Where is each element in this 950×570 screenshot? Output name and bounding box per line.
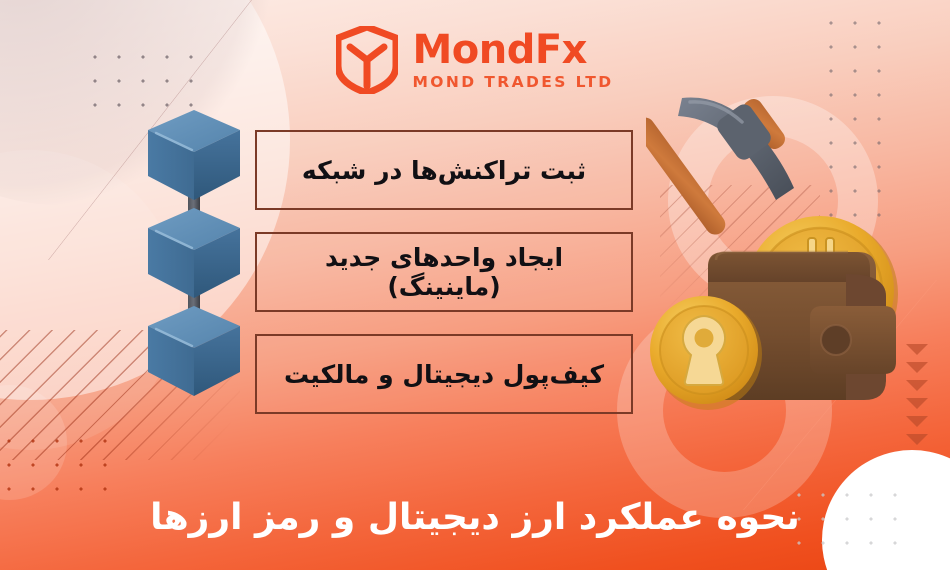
crypto-illustration — [646, 78, 908, 420]
mondfx-shield-logo-icon — [336, 26, 398, 94]
page-headline: نحوه عملکرد ارز دیجیتال و رمز ارزها — [0, 497, 950, 538]
feature-box-wallet[interactable]: کیف‌پول دیجیتال و مالکیت — [255, 334, 633, 414]
chevron-down-icon — [906, 416, 928, 427]
chevron-down-icon — [906, 434, 928, 445]
pickaxe-icon — [646, 95, 794, 238]
brand-tagline: MOND TRADES LTD — [412, 75, 613, 91]
chevron-down-icon — [906, 362, 928, 373]
brand-logo-text: MondFx MOND TRADES LTD — [412, 30, 613, 91]
brand-name: MondFx — [412, 30, 613, 70]
infographic-canvas: MondFx MOND TRADES LTD — [0, 0, 950, 570]
chevron-down-icon — [906, 344, 928, 355]
feature-box-list: ثبت تراکنش‌ها در شبکه ایجاد واحدهای جدید… — [255, 130, 633, 436]
blockchain-cube-chain — [136, 104, 254, 404]
decorative-circle-bottom-left — [0, 385, 67, 500]
feature-label: ایجاد واحدهای جدید (ماینینگ) — [257, 243, 631, 301]
feature-label: کیف‌پول دیجیتال و مالکیت — [274, 360, 614, 389]
chevron-down-icon — [906, 398, 928, 409]
feature-box-mining[interactable]: ایجاد واحدهای جدید (ماینینگ) — [255, 232, 633, 312]
feature-label: ثبت تراکنش‌ها در شبکه — [292, 156, 596, 185]
feature-box-transactions[interactable]: ثبت تراکنش‌ها در شبکه — [255, 130, 633, 210]
decorative-chevron-column — [906, 344, 928, 445]
decorative-dot-grid-bottom-left — [0, 426, 124, 502]
chevron-down-icon — [906, 380, 928, 391]
